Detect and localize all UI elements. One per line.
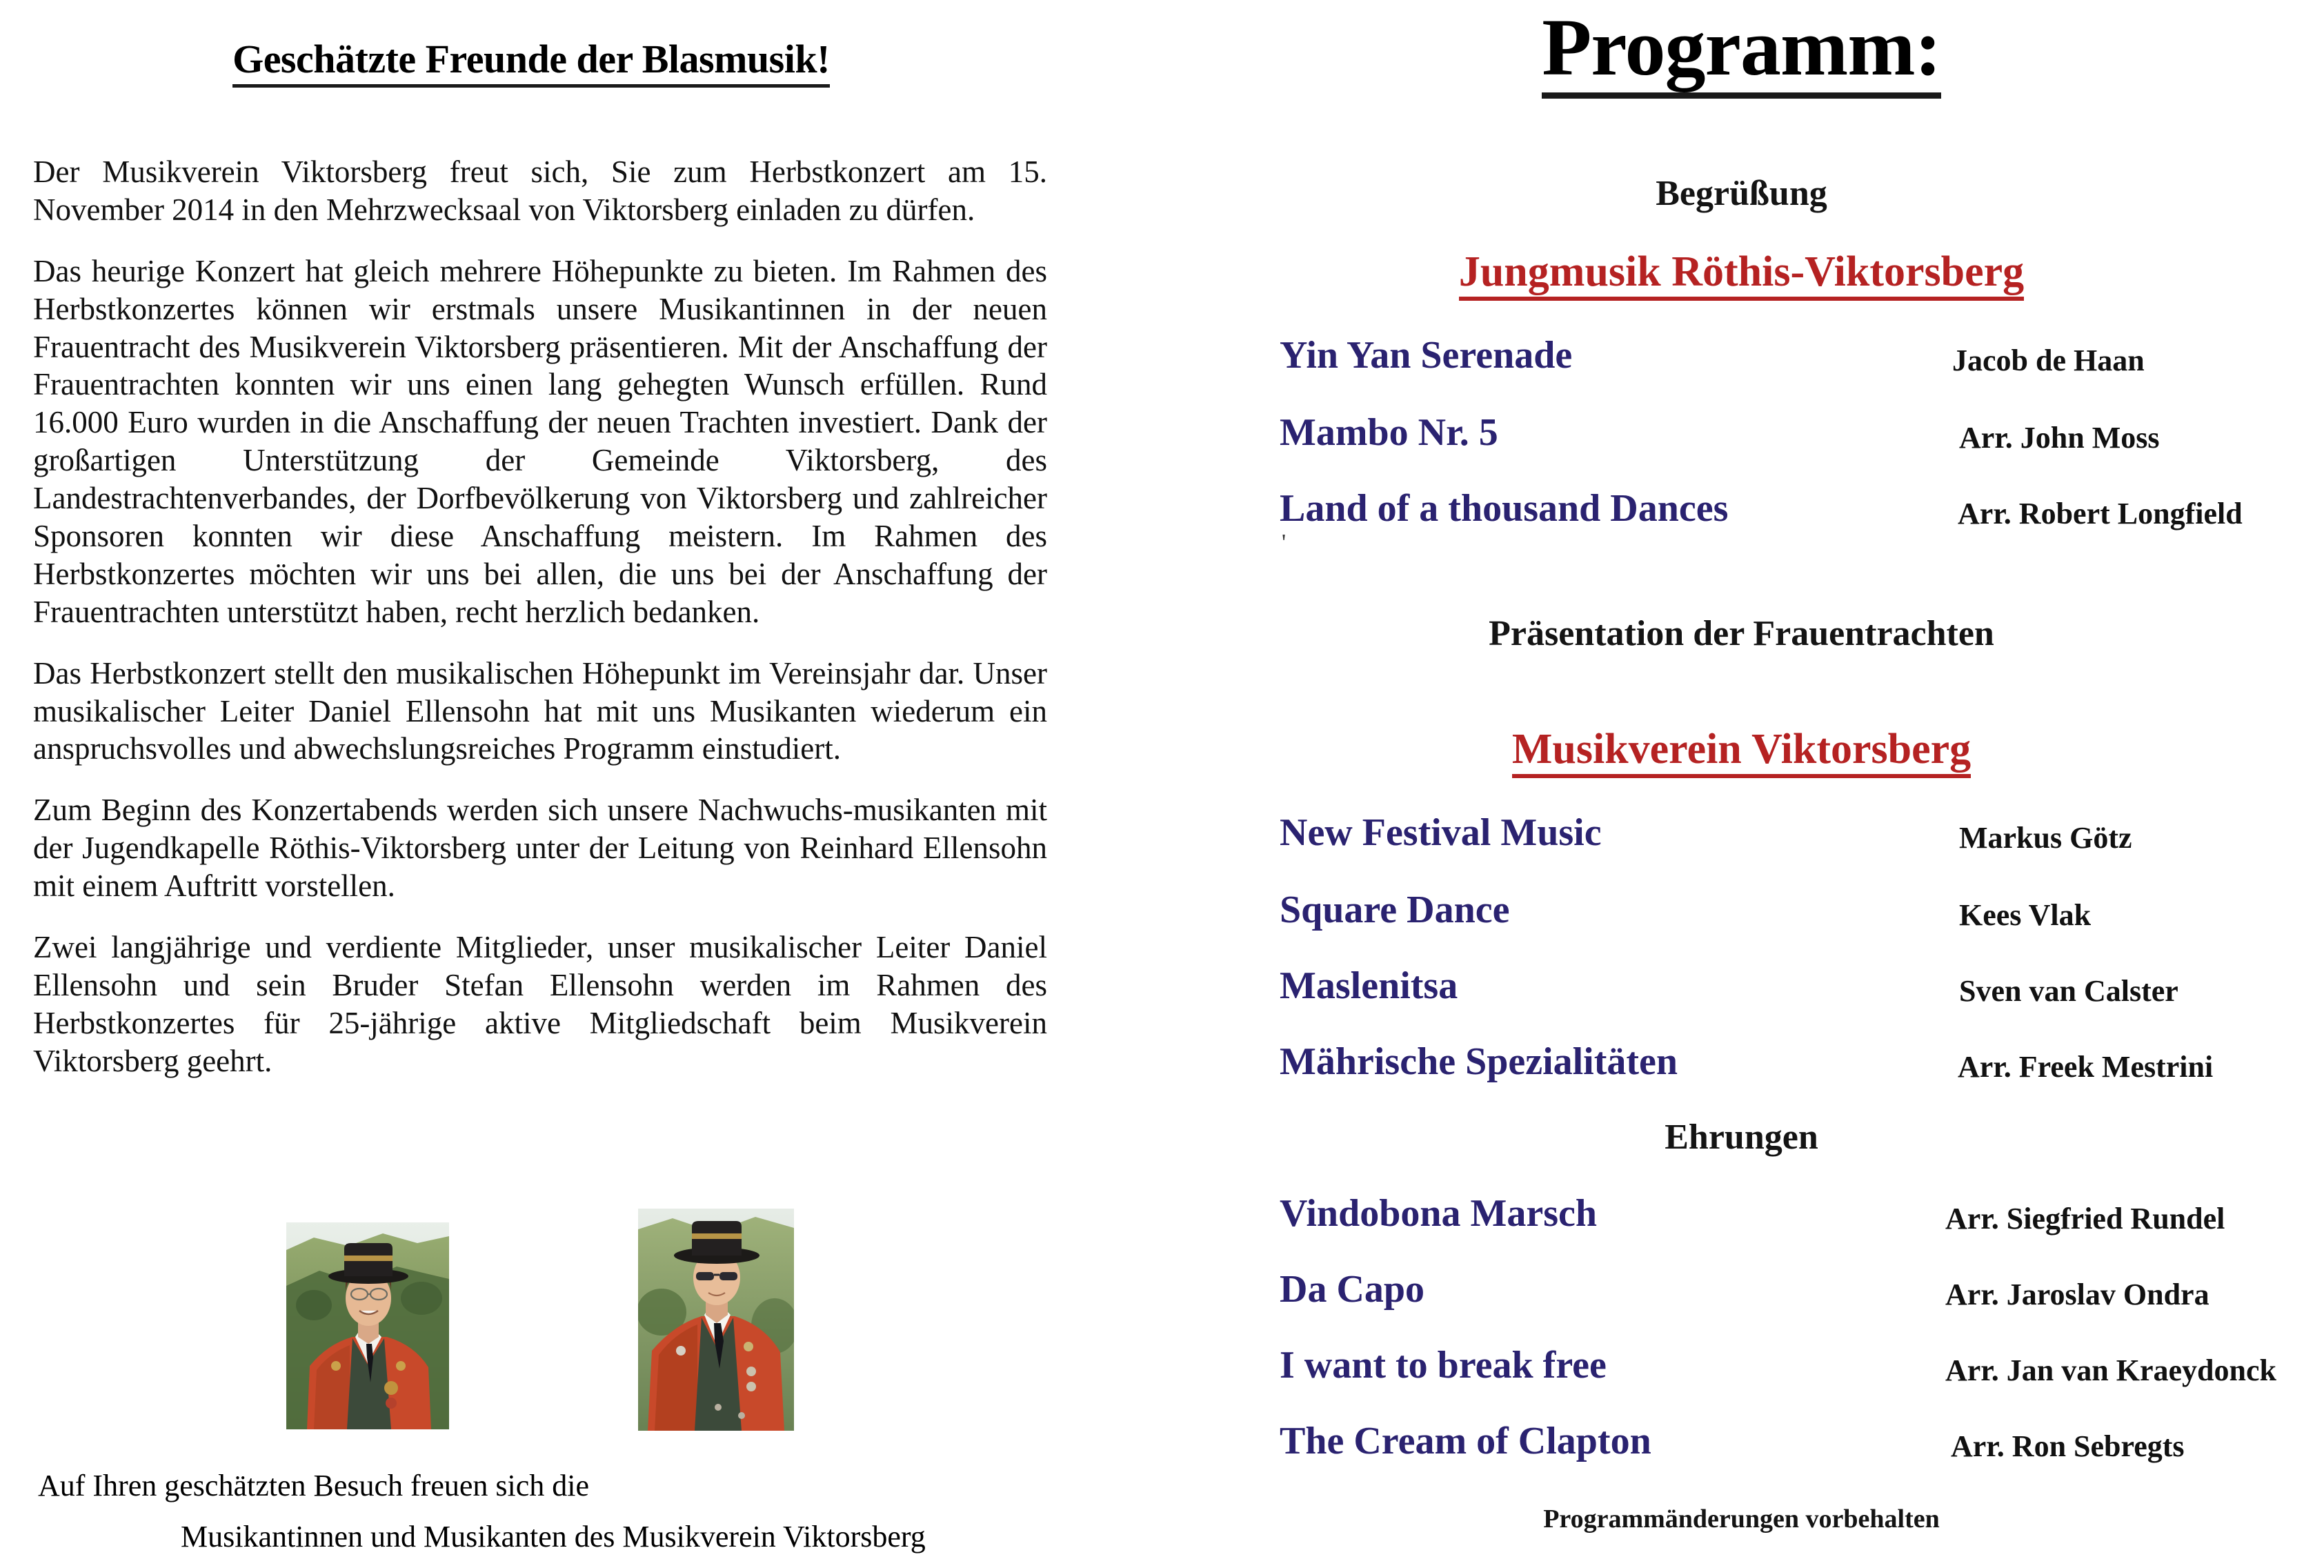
program-title-text: Programm: — [1542, 2, 1941, 99]
paragraph-4: Zum Beginn des Konzertabends werden sich… — [33, 791, 1047, 905]
piece-composer: Arr. Robert Longfield — [1958, 498, 2243, 530]
program-footnote: Programmänderungen vorbehalten — [1159, 1504, 2324, 1534]
portrait-illustration-1 — [286, 1222, 449, 1429]
program-title: Programm: — [1159, 7, 2324, 88]
closing-line-1: Auf Ihren geschätzten Besuch freuen sich… — [38, 1468, 589, 1505]
program-row: I want to break free Arr. Jan van Kraeyd… — [1159, 1345, 2324, 1393]
piece-composer: Arr. Siegfried Rundel — [1945, 1203, 2225, 1235]
program-row: Maslenitsa Sven van Calster — [1159, 966, 2324, 1014]
invitation-heading-text: Geschätzte Freunde der Blasmusik! — [232, 37, 830, 88]
program-row: Mährische Spezialitäten Arr. Freek Mestr… — [1159, 1042, 2324, 1090]
program-row: New Festival Music Markus Götz — [1159, 813, 2324, 861]
piece-title: Da Capo — [1280, 1269, 1424, 1310]
section-honors: Ehrungen — [1159, 1118, 2324, 1157]
piece-composer: Kees Vlak — [1959, 900, 2091, 931]
program-row: Land of a thousand Dances Arr. Robert Lo… — [1159, 488, 2324, 537]
piece-composer: Arr. Jan van Kraeydonck — [1945, 1355, 2276, 1387]
closing-line-2: Musikantinnen und Musikanten des Musikve… — [181, 1519, 926, 1556]
right-column-program: Programm: Begrüßung Jungmusik Röthis-Vik… — [1159, 0, 2324, 1568]
piece-title: Yin Yan Serenade — [1280, 335, 1572, 376]
program-row: Square Dance Kees Vlak — [1159, 890, 2324, 938]
piece-composer: Arr. John Moss — [1959, 422, 2160, 454]
paragraph-3: Das Herbstkonzert stellt den musikalisch… — [33, 655, 1047, 768]
piece-composer: Markus Götz — [1959, 822, 2132, 854]
piece-title: Maslenitsa — [1280, 966, 1458, 1006]
piece-title: Vindobona Marsch — [1280, 1193, 1597, 1234]
invitation-heading: Geschätzte Freunde der Blasmusik! — [28, 39, 1035, 81]
piece-title: Land of a thousand Dances — [1280, 488, 1728, 529]
section-greeting: Begrüßung — [1159, 174, 2324, 213]
section-musikverein-text: Musikverein Viktorsberg — [1512, 726, 1971, 778]
paragraph-5: Zwei langjährige und verdiente Mitgliede… — [33, 929, 1047, 1080]
left-column-invitation: Geschätzte Freunde der Blasmusik! Der Mu… — [0, 0, 1076, 1568]
piece-title: New Festival Music — [1280, 813, 1602, 853]
paragraph-1: Der Musikverein Viktorsberg freut sich, … — [33, 153, 1047, 229]
invitation-body: Der Musikverein Viktorsberg freut sich, … — [33, 153, 1047, 1080]
concert-flyer-page: Geschätzte Freunde der Blasmusik! Der Mu… — [0, 0, 2324, 1568]
piece-composer: Arr. Freek Mestrini — [1958, 1051, 2213, 1083]
section-musikverein: Musikverein Viktorsberg — [1159, 726, 2324, 773]
program-row: Da Capo Arr. Jaroslav Ondra — [1159, 1269, 2324, 1318]
program-row: Vindobona Marsch Arr. Siegfried Rundel — [1159, 1193, 2324, 1242]
photo-musician-right — [638, 1209, 794, 1431]
paragraph-2: Das heurige Konzert hat gleich mehrere H… — [33, 252, 1047, 631]
piece-composer: Arr. Jaroslav Ondra — [1945, 1279, 2209, 1311]
piece-title: I want to break free — [1280, 1345, 1607, 1386]
piece-title: Mambo Nr. 5 — [1280, 413, 1498, 453]
section-jungmusik: Jungmusik Röthis-Viktorsberg — [1159, 248, 2324, 295]
piece-composer: Sven van Calster — [1959, 975, 2178, 1007]
piece-title: The Cream of Clapton — [1280, 1421, 1651, 1462]
program-row: The Cream of Clapton Arr. Ron Sebregts — [1159, 1421, 2324, 1469]
section-jungmusik-text: Jungmusik Röthis-Viktorsberg — [1459, 248, 2024, 301]
program-row: Yin Yan Serenade Jacob de Haan — [1159, 335, 2324, 384]
piece-composer: Arr. Ron Sebregts — [1951, 1431, 2185, 1462]
stray-apostrophe-mark: ' — [1282, 531, 1286, 555]
portrait-illustration-2 — [638, 1209, 794, 1431]
section-presentation: Präsentation der Frauentrachten — [1159, 614, 2324, 653]
piece-composer: Jacob de Haan — [1952, 345, 2145, 377]
piece-title: Square Dance — [1280, 890, 1509, 931]
piece-title: Mährische Spezialitäten — [1280, 1042, 1678, 1082]
program-row: Mambo Nr. 5 Arr. John Moss — [1159, 413, 2324, 461]
photo-musician-left — [286, 1222, 449, 1429]
